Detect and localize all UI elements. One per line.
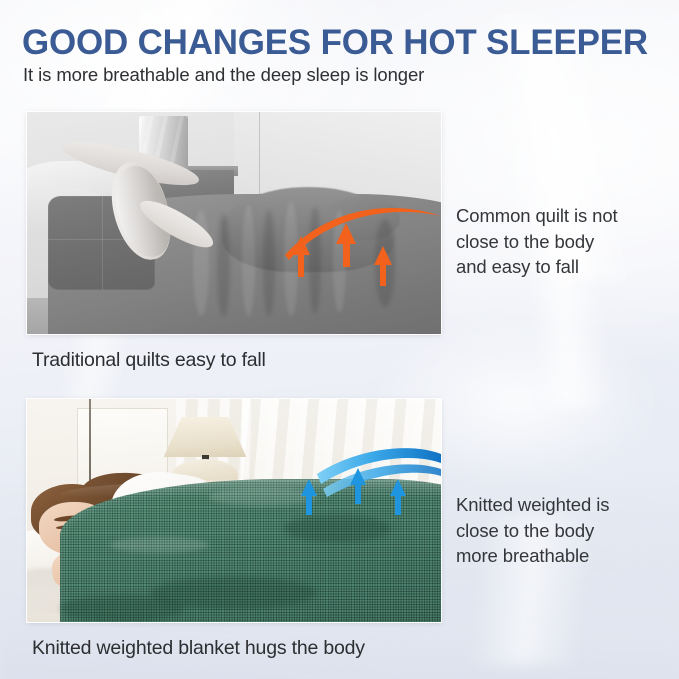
quilt-fold: [284, 201, 298, 316]
page-subtitle: It is more breathable and the deep sleep…: [23, 64, 424, 86]
quilt-fold: [333, 210, 345, 312]
page-title: GOOD CHANGES FOR HOT SLEEPER: [22, 22, 657, 63]
quilt-shadow: [217, 214, 229, 316]
side-text-line: close to the body: [456, 518, 609, 544]
side-text-knitted-weighted-blanket: Knitted weighted is close to the body mo…: [456, 492, 609, 569]
quilt-seam: [102, 196, 103, 289]
photo-traditional-quilt: [27, 112, 441, 334]
blanket-shadow: [284, 515, 392, 542]
scene-grayscale-bedroom: [27, 112, 441, 334]
infographic-page: GOOD CHANGES FOR HOT SLEEPER It is more …: [0, 0, 679, 679]
quilt-shadow: [309, 207, 321, 314]
side-text-traditional-quilt: Common quilt is not close to the body an…: [456, 203, 618, 280]
side-text-line: and easy to fall: [456, 254, 618, 280]
caption-traditional-quilt: Traditional quilts easy to fall: [32, 349, 266, 372]
blanket-highlight: [209, 488, 317, 506]
blanket-shadow: [60, 595, 184, 622]
quilt-fold: [242, 205, 254, 316]
photo-knitted-weighted-blanket: [27, 399, 441, 622]
caption-knitted-weighted-blanket: Knitted weighted blanket hugs the body: [32, 637, 365, 660]
side-text-line: more breathable: [456, 543, 609, 569]
side-text-line: close to the body: [456, 229, 618, 255]
scene-color-bedroom: [27, 399, 441, 622]
side-text-line: Common quilt is not: [456, 203, 618, 229]
blanket-highlight: [110, 537, 209, 553]
side-text-line: Knitted weighted is: [456, 492, 609, 518]
